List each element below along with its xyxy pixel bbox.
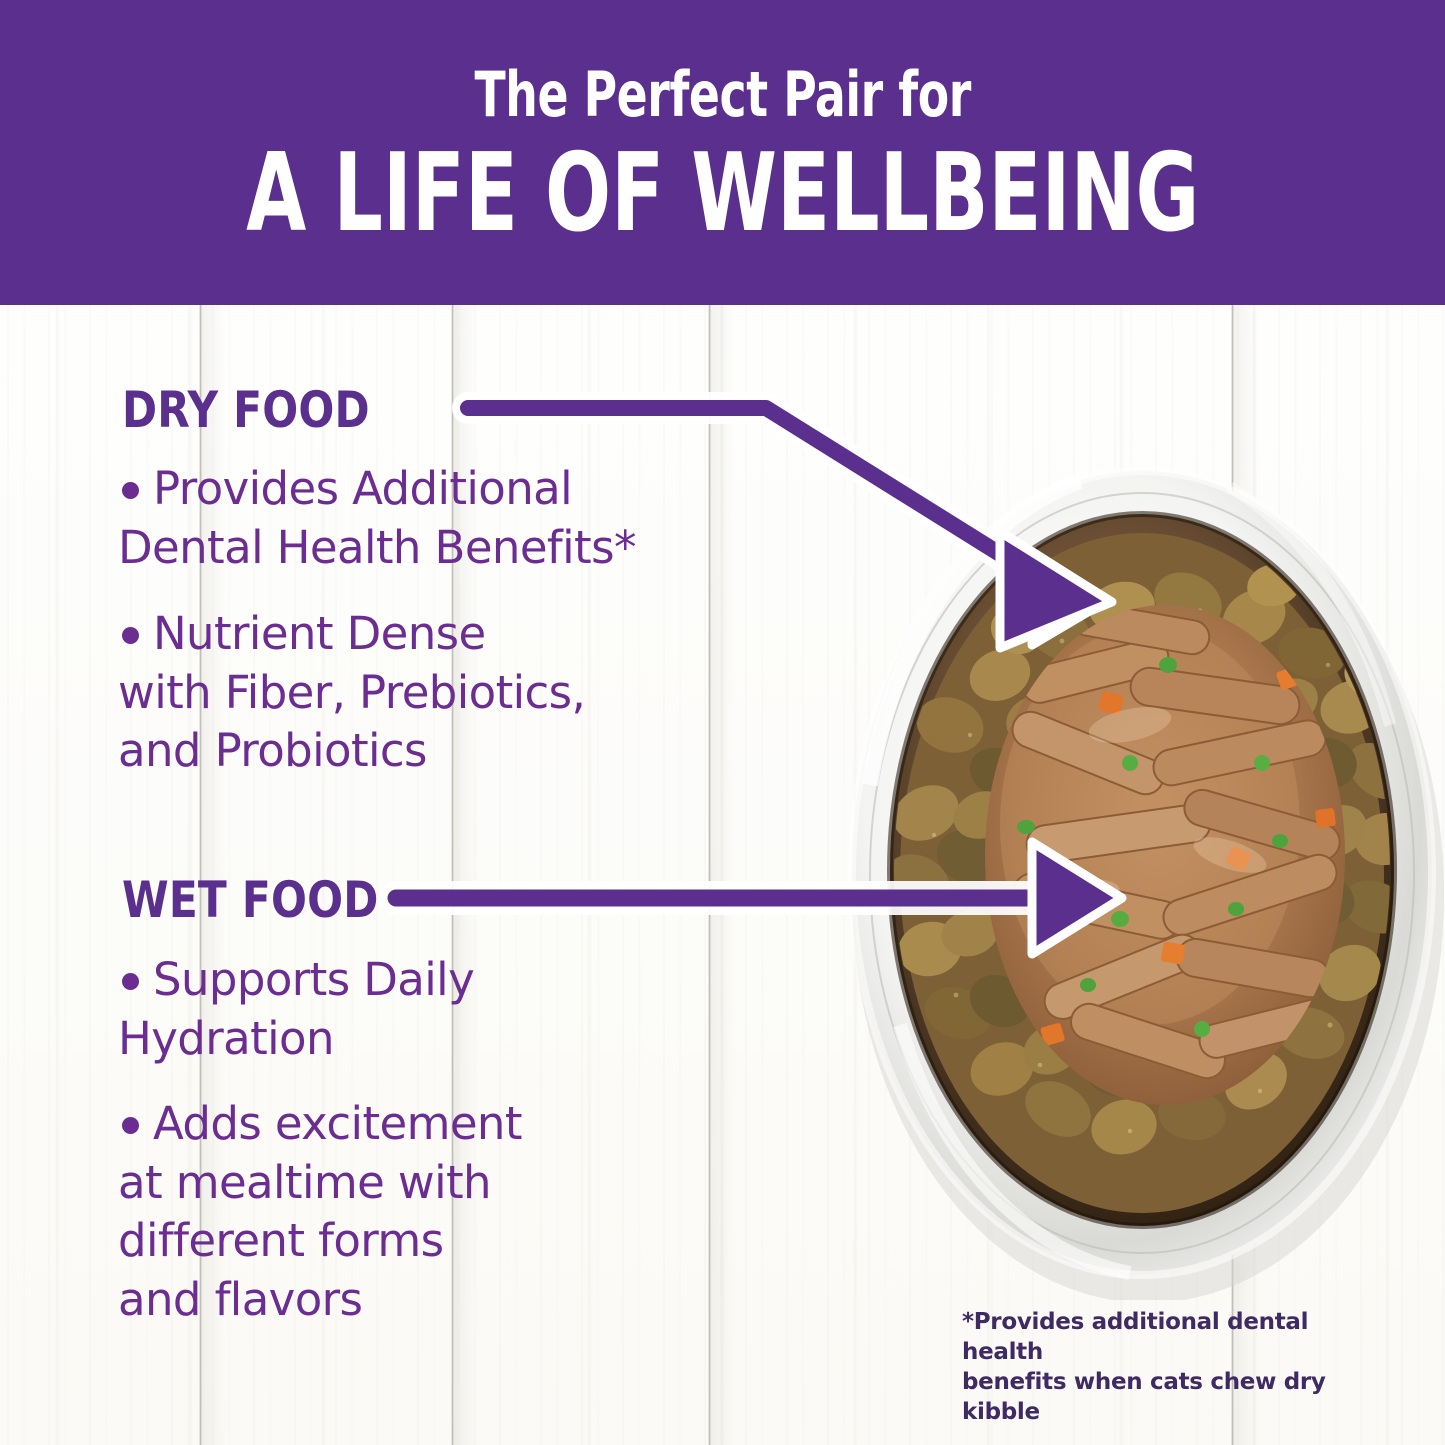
bullet-dry-2-line-3: and Probiotics (118, 724, 427, 777)
bullet-wet-1-line-1: Supports Daily (153, 953, 474, 1006)
bullet-wet-2-line-4: and flavors (118, 1273, 362, 1326)
bullet-dot (122, 973, 139, 990)
bullet-dry-1-line-1: Provides Additional (153, 462, 572, 515)
header-eyebrow: The Perfect Pair for (474, 64, 970, 126)
footnote-disclaimer: *Provides additional dental health benef… (962, 1308, 1382, 1428)
bullet-wet-1: Supports Daily Hydration (118, 951, 818, 1068)
bullet-dry-2-line-1: Nutrient Dense (153, 607, 486, 660)
promo-infographic: The Perfect Pair for A LIFE OF WELLBEING… (0, 0, 1445, 1445)
bullet-dry-2: Nutrient Dense with Fiber, Prebiotics, a… (118, 605, 818, 781)
footnote-line-2: benefits when cats chew dry kibble (962, 1368, 1382, 1428)
bullet-wet-2-line-3: different forms (118, 1214, 443, 1267)
bullet-dry-1: Provides Additional Dental Health Benefi… (118, 460, 818, 577)
bullet-dry-1-line-2: Dental Health Benefits* (118, 521, 636, 574)
page-title: A LIFE OF WELLBEING (246, 140, 1199, 248)
section-heading-dry-food: DRY FOOD (122, 381, 370, 439)
footnote-line-1: *Provides additional dental health (962, 1308, 1382, 1368)
bowl-illustration (830, 425, 1445, 1300)
bullet-dry-2-line-2: with Fiber, Prebiotics, (118, 666, 585, 719)
bullet-dot (122, 1117, 139, 1134)
bullet-wet-2: Adds excitement at mealtime with differe… (118, 1095, 818, 1329)
header-banner: The Perfect Pair for A LIFE OF WELLBEING (0, 0, 1445, 305)
bullet-dot (122, 482, 139, 499)
bullet-dot (122, 627, 139, 644)
bullet-wet-2-line-2: at mealtime with (118, 1156, 491, 1209)
benefits-content: DRY FOOD Provides Additional Dental Heal… (0, 305, 860, 1445)
section-heading-wet-food: WET FOOD (122, 871, 379, 929)
bullet-wet-2-line-1: Adds excitement (153, 1097, 522, 1150)
pet-food-bowl-image (830, 425, 1445, 1300)
bullet-wet-1-line-2: Hydration (118, 1012, 334, 1065)
